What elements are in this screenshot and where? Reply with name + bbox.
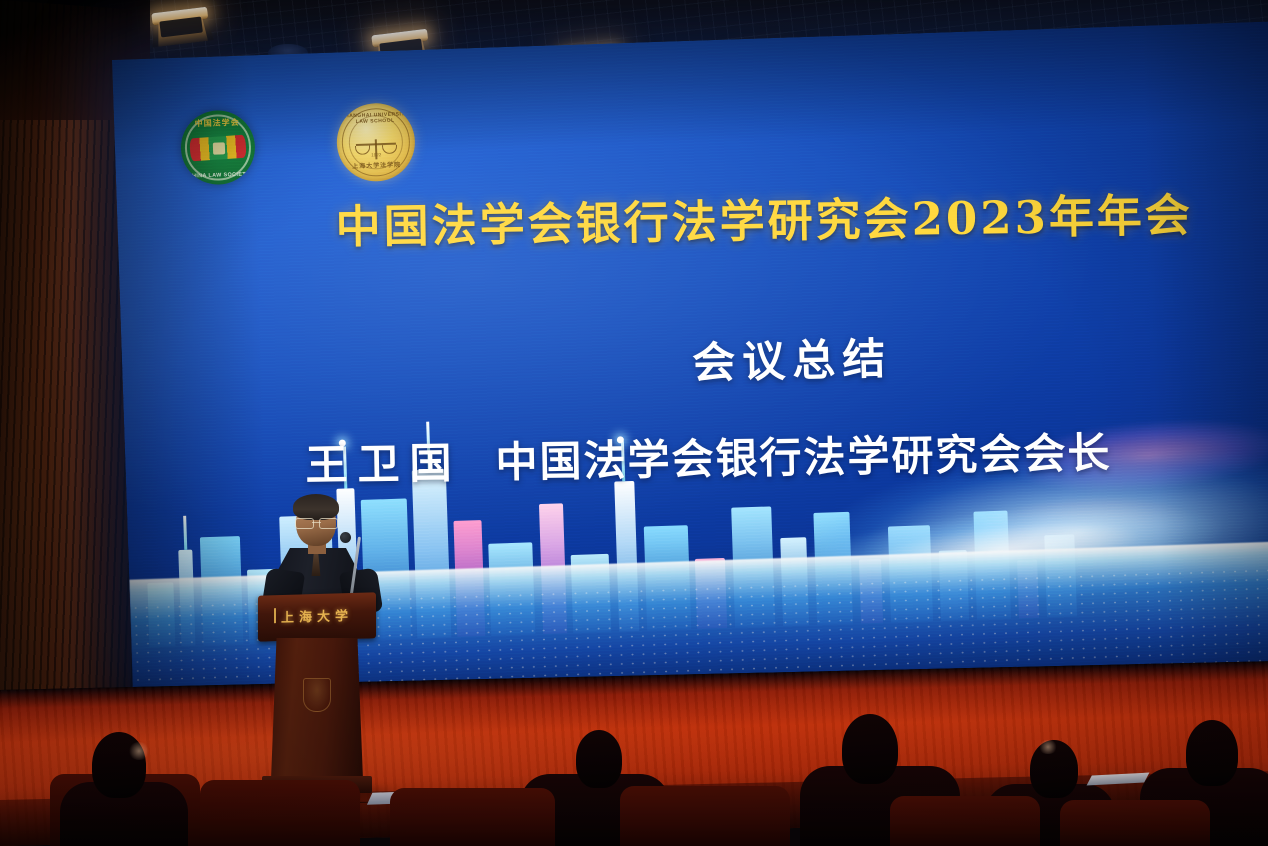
microphone-icon [340,532,351,543]
lectern-top: 上海大学 [258,592,376,641]
audience-head [842,714,898,784]
audience-silhouettes [0,700,1268,846]
lectern-label: 上海大学 [258,604,376,626]
audience-paper [1087,773,1150,786]
glasses-icon [295,518,338,527]
conference-stage-photo: 中国法学会 CHINA LAW SOCIETY SHANGHAI UNIVERS… [0,0,1268,846]
audience-head [1186,720,1238,786]
stage-light-icon [148,2,214,49]
audience-head [576,730,622,788]
